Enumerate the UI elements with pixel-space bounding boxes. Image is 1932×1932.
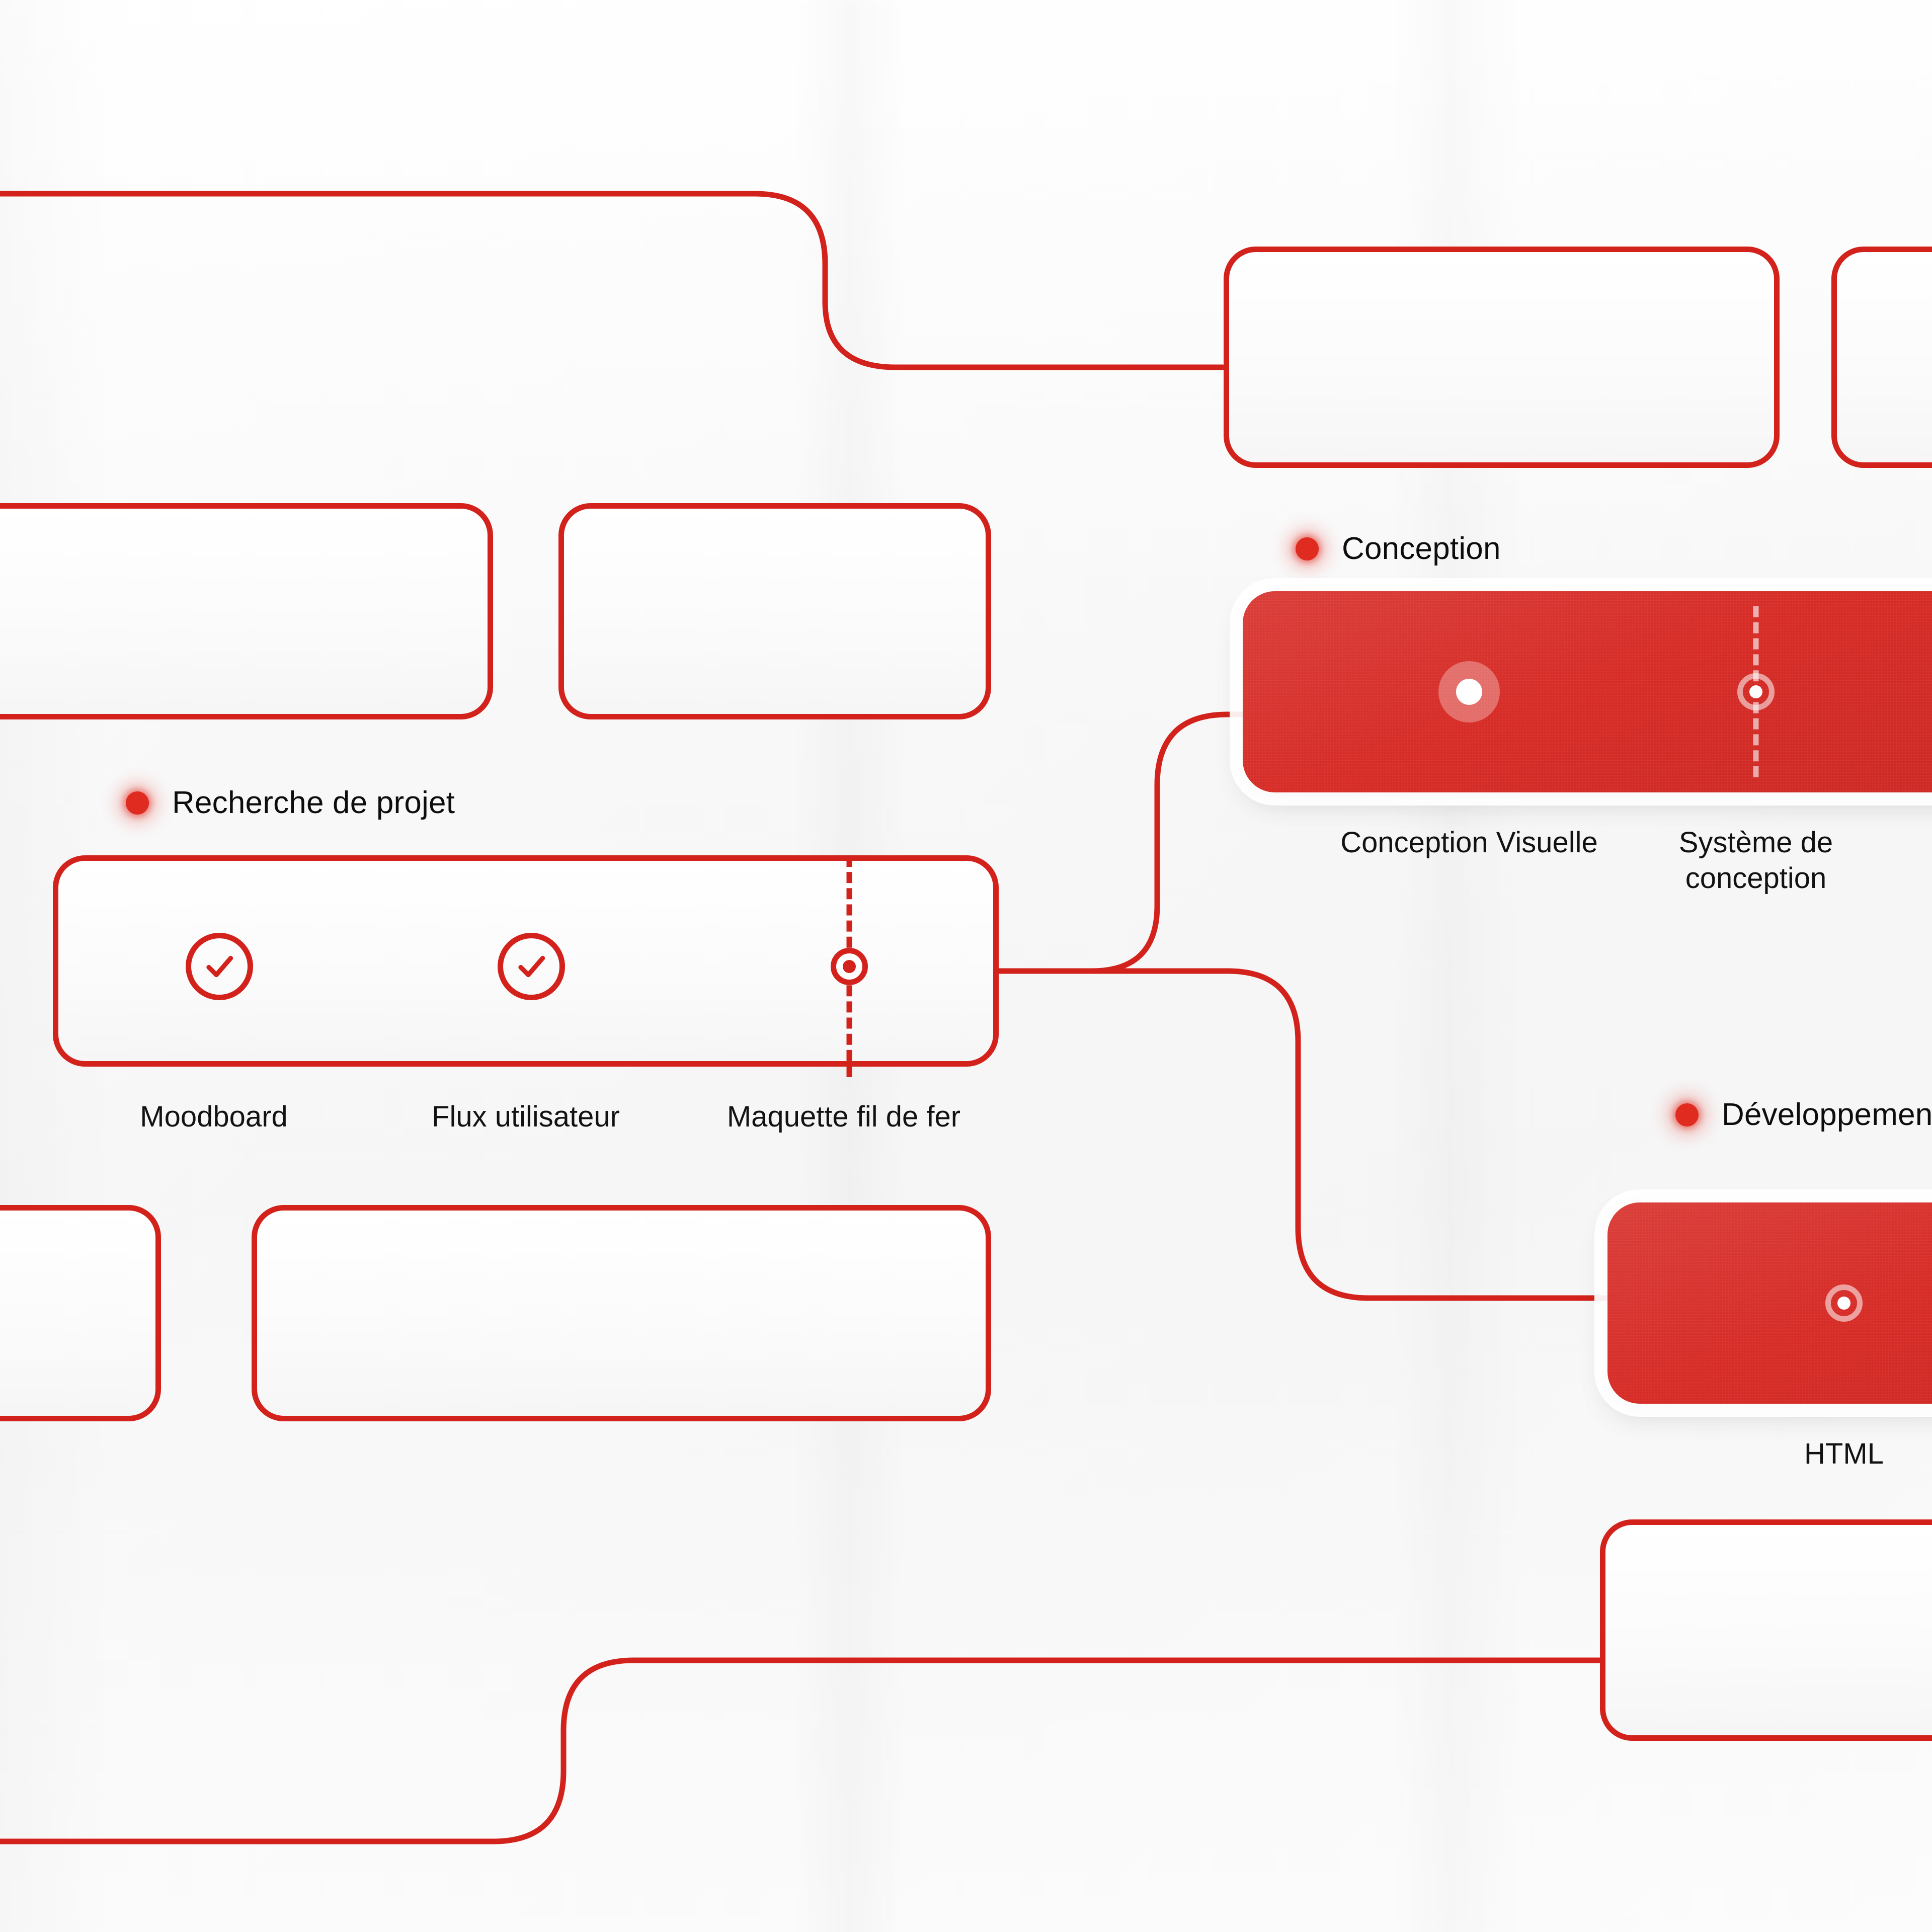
node-lower-left-small[interactable]	[0, 1205, 161, 1421]
connector-wireframe-to-developpement	[999, 971, 1605, 1298]
legend-label-developpement: Développement	[1722, 1097, 1932, 1133]
caption-html: HTML	[1718, 1436, 1932, 1472]
check-circle-icon	[498, 933, 565, 1000]
legend-developpement: Développement	[1675, 1097, 1932, 1133]
target-dot-icon	[1837, 1297, 1850, 1310]
target-dot-icon	[1749, 685, 1762, 698]
check-icon	[513, 948, 549, 985]
step-marker-conception-visuelle[interactable]	[1438, 661, 1500, 722]
node-bottom-right[interactable]	[1600, 1519, 1932, 1741]
step-marker-html[interactable]	[1825, 1284, 1863, 1322]
caption-systeme-de-conception: Système de conception	[1580, 825, 1932, 897]
connector-top-left-to-topright	[0, 194, 1223, 367]
check-circle-icon	[186, 933, 253, 1000]
target-dot-icon	[843, 960, 856, 973]
node-top-right-b[interactable]	[1831, 247, 1932, 468]
card-conception[interactable]	[1243, 591, 1932, 792]
caption-maquette-fil-de-fer: Maquette fil de fer	[637, 1099, 1050, 1135]
card-recherche-de-projet[interactable]	[53, 855, 999, 1067]
target-ring-icon	[831, 948, 868, 985]
check-icon	[201, 948, 237, 985]
node-mid-left-a[interactable]	[0, 503, 493, 719]
legend-conception: Conception	[1296, 531, 1501, 567]
legend-label-recherche: Recherche de projet	[172, 785, 455, 821]
legend-label-conception: Conception	[1342, 531, 1501, 567]
status-led-icon	[1675, 1103, 1699, 1126]
node-lower-left-wide[interactable]	[252, 1205, 991, 1421]
caption-moodboard: Moodboard	[58, 1099, 370, 1135]
node-top-right-a[interactable]	[1224, 247, 1780, 468]
step-marker-maquette-fil-de-fer[interactable]	[831, 948, 868, 985]
legend-recherche: Recherche de projet	[126, 785, 455, 821]
diagram-canvas: Recherche de projet Moodboar	[0, 0, 1932, 1932]
node-mid-left-b[interactable]	[558, 503, 991, 719]
step-marker-systeme-de-conception[interactable]	[1737, 673, 1775, 710]
target-ring-icon	[1737, 673, 1775, 710]
connector-bottom-to-bottomright	[0, 1660, 1605, 1841]
status-led-icon	[126, 791, 149, 815]
step-marker-flux-utilisateur[interactable]	[498, 933, 565, 1000]
connector-wireframe-to-conception	[999, 714, 1243, 971]
status-led-icon	[1296, 537, 1319, 560]
active-dot-icon	[1456, 679, 1482, 705]
card-developpement[interactable]	[1607, 1202, 1932, 1404]
target-ring-icon	[1825, 1284, 1863, 1322]
step-marker-moodboard[interactable]	[186, 933, 253, 1000]
